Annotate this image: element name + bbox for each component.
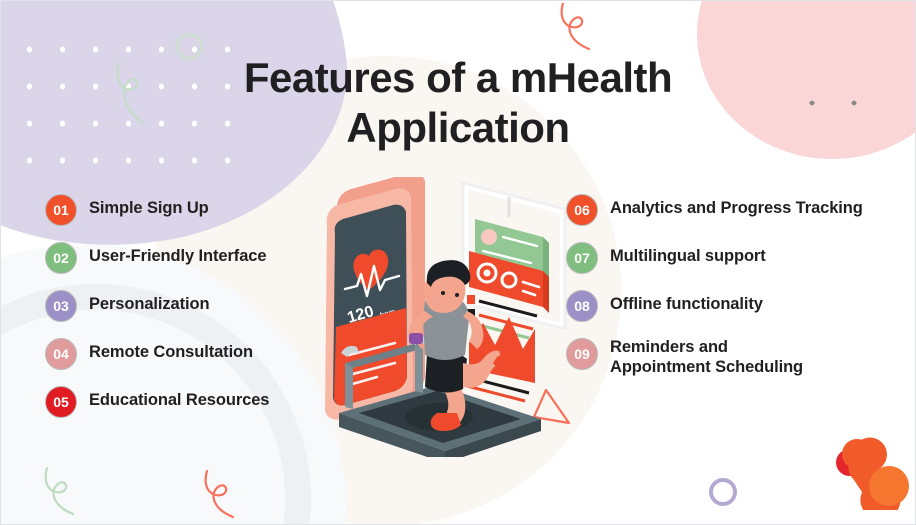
sage-squiggle-bottom-left (33, 466, 93, 525)
feature-item-04[interactable]: 04 Remote Consultation (45, 337, 320, 370)
feature-badge-08: 08 (566, 290, 598, 322)
purple-ring-icon (709, 478, 737, 506)
orange-molecule-icon (827, 434, 913, 510)
feature-badge-01: 01 (45, 194, 77, 226)
feature-badge-03: 03 (45, 290, 77, 322)
feature-label-09-line-1: Reminders and (610, 337, 803, 357)
feature-label-09-line-2: Appointment Scheduling (610, 357, 803, 377)
red-dot-icon (836, 449, 863, 476)
feature-badge-04: 04 (45, 338, 77, 370)
feature-item-08[interactable]: 08 Offline functionality (566, 289, 896, 322)
feature-label-08: Offline functionality (610, 289, 763, 314)
feature-badge-09: 09 (566, 338, 598, 370)
title-line-1: Features of a mHealth (1, 53, 915, 103)
feature-label-04: Remote Consultation (89, 337, 253, 362)
feature-label-09: Reminders and Appointment Scheduling (610, 337, 803, 377)
feature-label-07: Multilingual support (610, 241, 766, 266)
feature-badge-06: 06 (566, 194, 598, 226)
feature-label-06: Analytics and Progress Tracking (610, 193, 863, 218)
coral-squiggle-bottom-left (193, 469, 253, 525)
feature-badge-02: 02 (45, 242, 77, 274)
mhealth-illustration: 120 bpm (297, 177, 597, 457)
feature-label-05: Educational Resources (89, 385, 269, 410)
feature-label-01: Simple Sign Up (89, 193, 209, 218)
title-line-2: Application (1, 103, 915, 153)
feature-item-01[interactable]: 01 Simple Sign Up (45, 193, 320, 226)
feature-label-02: User-Friendly Interface (89, 241, 266, 266)
feature-item-03[interactable]: 03 Personalization (45, 289, 320, 322)
feature-badge-05: 05 (45, 386, 77, 418)
feature-badge-07: 07 (566, 242, 598, 274)
feature-item-06[interactable]: 06 Analytics and Progress Tracking (566, 193, 896, 226)
feature-item-05[interactable]: 05 Educational Resources (45, 385, 320, 418)
features-column-left: 01 Simple Sign Up 02 User-Friendly Inter… (45, 193, 320, 433)
features-column-right: 06 Analytics and Progress Tracking 07 Mu… (566, 193, 896, 392)
feature-label-03: Personalization (89, 289, 209, 314)
page-title: Features of a mHealth Application (1, 53, 915, 153)
infographic-slide: Features of a mHealth Application 120 bp… (0, 0, 916, 525)
feature-item-02[interactable]: 02 User-Friendly Interface (45, 241, 320, 274)
feature-item-09[interactable]: 09 Reminders and Appointment Scheduling (566, 337, 896, 377)
feature-item-07[interactable]: 07 Multilingual support (566, 241, 896, 274)
